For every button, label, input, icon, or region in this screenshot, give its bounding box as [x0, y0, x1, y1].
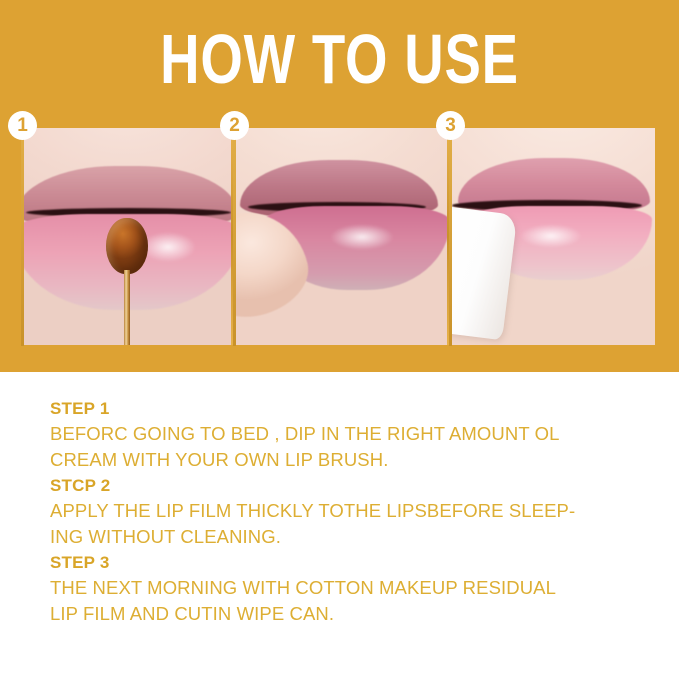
badge-stem-1	[21, 136, 24, 346]
step-badge-2: 2	[220, 111, 249, 140]
step-2-heading: STCP 2	[50, 473, 650, 498]
badge-stem-3	[449, 136, 452, 346]
lip-gloss-highlight-1	[140, 232, 196, 262]
step-badge-3: 3	[436, 111, 465, 140]
step-1-heading: STEP 1	[50, 396, 650, 421]
lip-gloss-highlight-3	[520, 224, 582, 248]
step-1-body: BEFORC GOING TO BED , DIP IN THE RIGHT A…	[50, 421, 650, 473]
badge-stem-2	[233, 136, 236, 346]
page-title: HOW TO USE	[75, 24, 605, 94]
lip-brush-handle	[124, 270, 130, 345]
step-3-heading: STEP 3	[50, 550, 650, 575]
step-photo-3	[450, 128, 655, 345]
lip-brush-head-icon	[106, 218, 148, 274]
step-photo-2	[234, 128, 447, 345]
step-3-body: THE NEXT MORNING WITH COTTON MAKEUP RESI…	[50, 575, 650, 627]
step-2-body: APPLY THE LIP FILM THICKLY TOTHE LIPSBEF…	[50, 498, 650, 550]
step-badge-1: 1	[8, 111, 37, 140]
lip-gloss-highlight-2	[330, 224, 394, 250]
how-to-use-photo-strip	[22, 128, 656, 345]
step-photo-1	[22, 128, 231, 345]
instructions-list: STEP 1 BEFORC GOING TO BED , DIP IN THE …	[50, 396, 650, 627]
